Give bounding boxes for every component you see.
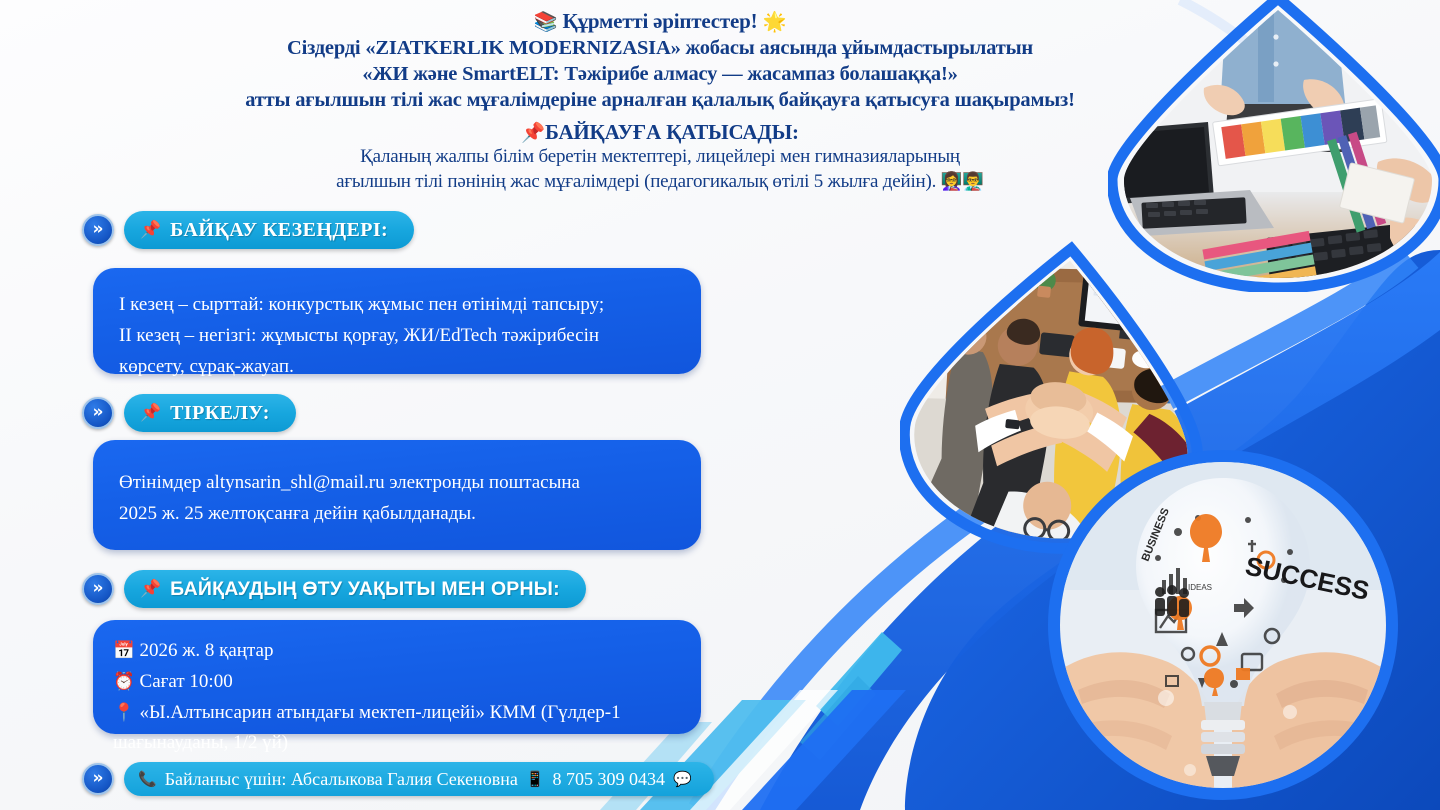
- phone-icon: 📞: [138, 770, 157, 788]
- stages-title: БАЙҚАУ КЕЗЕҢДЕРІ:: [170, 219, 388, 242]
- calendar-icon: 📅: [113, 641, 135, 661]
- contact-number[interactable]: 8 705 309 0434: [553, 769, 666, 790]
- chat-bubble-icon: 💬: [673, 770, 692, 788]
- background-cyan-tick: [816, 632, 902, 726]
- venue-place-row: 📍 «Ы.Алтынсарин атындағы мектеп-лицейі» …: [113, 698, 681, 729]
- stages-card: I кезең – сырттай: конкурстық жұмыс пен …: [93, 268, 701, 374]
- success-lightbulb-photo: SUCCESS BUSINESS IDEAS: [1038, 440, 1408, 810]
- chevron-badge-icon[interactable]: »: [82, 214, 114, 246]
- poster-canvas: 📚 Құрметті әріптестер! 🌟 Сіздерді «ZIATK…: [0, 0, 1440, 810]
- books-icon: 📚: [534, 10, 558, 33]
- stages-line-3: көрсету, сұрақ-жауап.: [119, 352, 675, 383]
- contact-bar[interactable]: 📞 Байланыс үшін: Абсалыкова Галия Секено…: [124, 762, 714, 796]
- header-greeting-text: Құрметті әріптестер!: [563, 9, 758, 33]
- pin-icon: 📌: [521, 121, 545, 144]
- chevron-badge-icon[interactable]: »: [82, 763, 114, 795]
- header-participants-title: 📌БАЙҚАУҒА ҚАТЫСАДЫ:: [160, 114, 1160, 146]
- contact-row: » 📞 Байланыс үшін: Абсалыкова Галия Секе…: [82, 762, 714, 796]
- pin-icon: 📌: [140, 405, 161, 422]
- section-header-stages: » 📌 БАЙҚАУ КЕЗЕҢДЕРІ:: [82, 211, 414, 249]
- sparkle-icon: 🌟: [763, 10, 787, 33]
- venue-place-line-2: шағынауданы, 1/2 үй): [113, 728, 681, 759]
- registration-line-2: 2025 ж. 25 желтоқсанға дейін қабылданады…: [119, 499, 675, 530]
- venue-date: 2026 ж. 8 қаңтар: [140, 640, 274, 661]
- venue-time-row: ⏰ Сағат 10:00: [113, 667, 681, 698]
- teachers-icon: 👩‍🏫👨‍🏫: [941, 172, 984, 192]
- header-line-7-text: ағылшын тілі пәнінің жас мұғалімдері (пе…: [336, 171, 936, 192]
- stages-line-1: I кезең – сырттай: конкурстық жұмыс пен …: [119, 290, 675, 321]
- venue-time: Сағат 10:00: [140, 671, 233, 692]
- venue-card: 📅 2026 ж. 8 қаңтар ⏰ Сағат 10:00 📍 «Ы.Ал…: [93, 620, 701, 734]
- registration-title: ТІРКЕЛУ:: [170, 402, 270, 425]
- venue-title-pill: 📌 БАЙҚАУДЫҢ ӨТУ УАҚЫТЫ МЕН ОРНЫ:: [124, 570, 586, 608]
- ideas-wordmark: IDEAS: [1188, 583, 1212, 592]
- header-greeting-line: 📚 Құрметті әріптестер! 🌟: [160, 8, 1160, 35]
- header-line-6: Қаланың жалпы білім беретін мектептері, …: [160, 145, 1160, 169]
- contact-label: Байланыс үшін: Абсалыкова Галия Секеновн…: [165, 769, 518, 790]
- venue-title: БАЙҚАУДЫҢ ӨТУ УАҚЫТЫ МЕН ОРНЫ:: [170, 578, 560, 601]
- venue-date-row: 📅 2026 ж. 8 қаңтар: [113, 636, 681, 667]
- header-line-4: атты ағылшын тілі жас мұғалімдеріне арна…: [160, 87, 1160, 113]
- venue-place-line-1: «Ы.Алтынсарин атындағы мектеп-лицейі» КМ…: [140, 702, 621, 723]
- registration-title-pill: 📌 ТІРКЕЛУ:: [124, 394, 296, 432]
- header-participants-label: БАЙҚАУҒА ҚАТЫСАДЫ:: [545, 120, 799, 144]
- pin-icon: 📌: [140, 222, 161, 239]
- section-header-registration: » 📌 ТІРКЕЛУ:: [82, 394, 296, 432]
- chevron-badge-icon[interactable]: »: [82, 397, 114, 429]
- registration-card: Өтінімдер altynsarin_shl@mail.ru электро…: [93, 440, 701, 550]
- stages-line-2: II кезең – негізгі: жұмысты қорғау, ЖИ/E…: [119, 321, 675, 352]
- stages-title-pill: 📌 БАЙҚАУ КЕЗЕҢДЕРІ:: [124, 211, 414, 249]
- location-pin-icon: 📍: [113, 703, 135, 723]
- section-header-venue: » 📌 БАЙҚАУДЫҢ ӨТУ УАҚЫТЫ МЕН ОРНЫ:: [82, 570, 586, 608]
- alarm-clock-icon: ⏰: [113, 672, 135, 692]
- poster-header: 📚 Құрметті әріптестер! 🌟 Сіздерді «ZIATK…: [160, 8, 1160, 194]
- header-line-7: ағылшын тілі пәнінің жас мұғалімдері (пе…: [160, 170, 1160, 194]
- header-line-3: «ЖИ және SmartELT: Тәжірибе алмасу — жас…: [160, 61, 1160, 87]
- mobile-phone-icon: 📱: [526, 770, 545, 788]
- background-cyan-tick-2: [800, 676, 876, 760]
- pin-icon: 📌: [140, 581, 161, 598]
- photo-content: SUCCESS BUSINESS IDEAS: [1038, 440, 1408, 810]
- chevron-badge-icon[interactable]: »: [82, 573, 114, 605]
- registration-line-1: Өтінімдер altynsarin_shl@mail.ru электро…: [119, 468, 675, 499]
- header-line-2: Сіздерді «ZIATKERLIK MODERNIZASIA» жобас…: [160, 35, 1160, 61]
- photo-frame-lightbulb: SUCCESS BUSINESS IDEAS: [1038, 440, 1408, 810]
